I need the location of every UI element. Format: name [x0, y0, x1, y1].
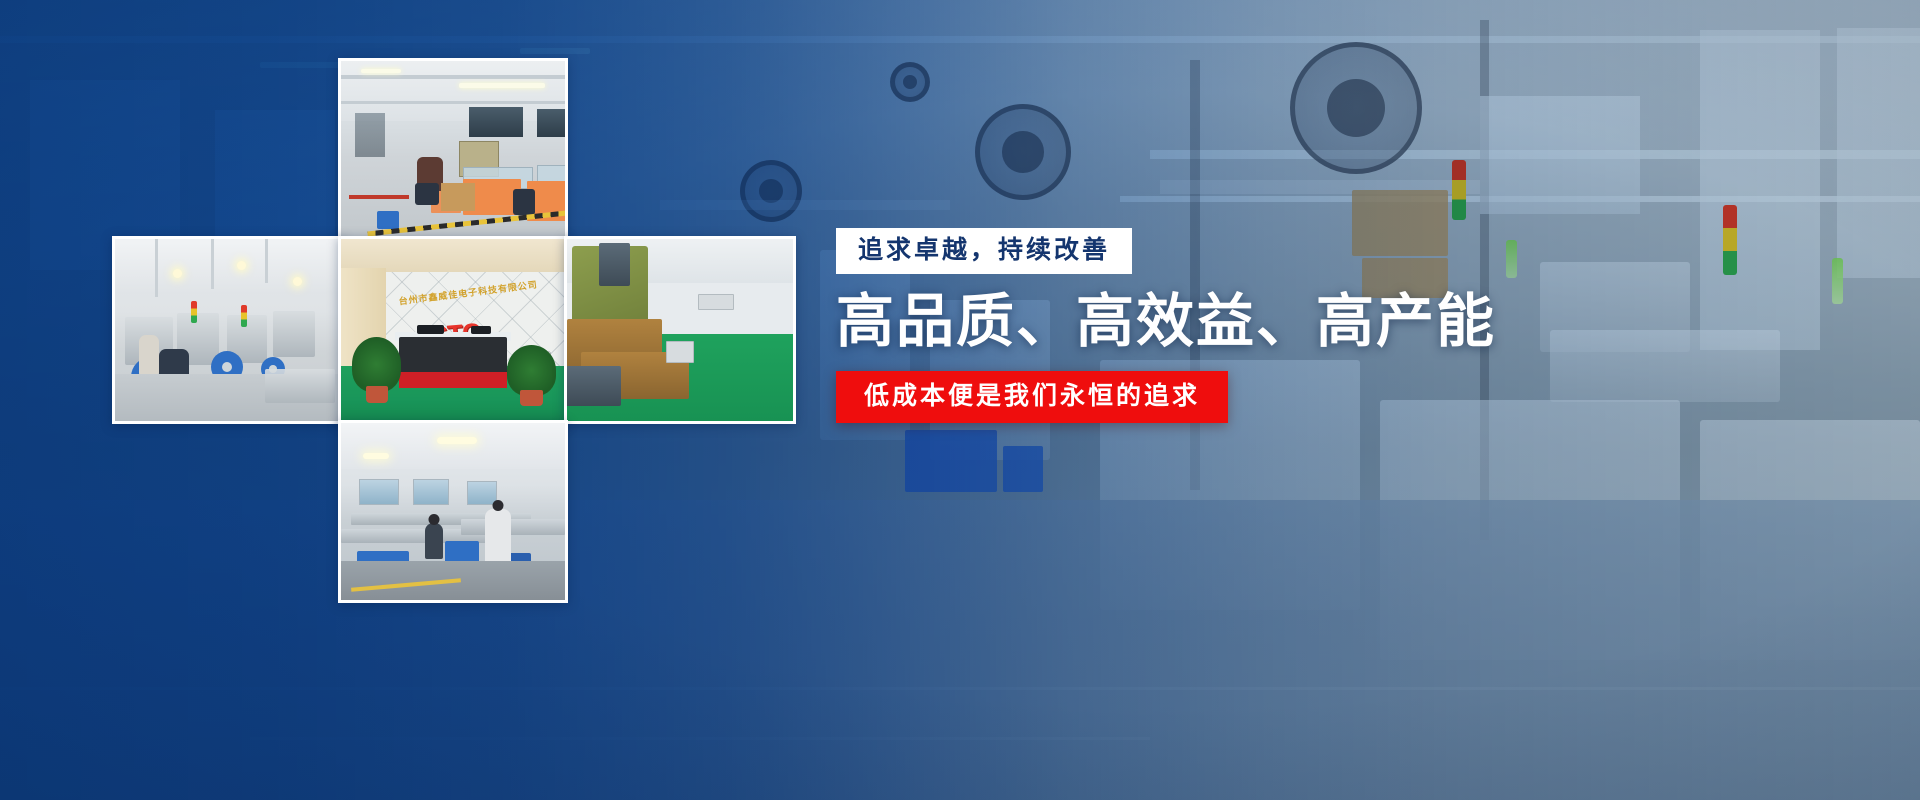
collage-photo-assembly[interactable]	[338, 420, 568, 603]
collage-photo-equipment[interactable]	[564, 236, 796, 424]
promo-banner: 台州市鑫威佳电子科技有限公司 STC CO.,LTD	[0, 0, 1920, 800]
collage-photo-reception[interactable]: 台州市鑫威佳电子科技有限公司 STC CO.,LTD	[338, 236, 568, 424]
collage-photo-office[interactable]	[338, 58, 568, 240]
headline-text-block: 追求卓越，持续改善 高品质、高效益、高产能 低成本便是我们永恒的追求	[836, 228, 1396, 423]
collage-photo-machineshop[interactable]	[112, 236, 344, 424]
main-headline: 高品质、高效益、高产能	[836, 291, 1396, 352]
photo-collage: 台州市鑫威佳电子科技有限公司 STC CO.,LTD	[112, 58, 812, 603]
subline-red-bar: 低成本便是我们永恒的追求	[836, 371, 1228, 423]
tagline-badge: 追求卓越，持续改善	[836, 228, 1132, 274]
